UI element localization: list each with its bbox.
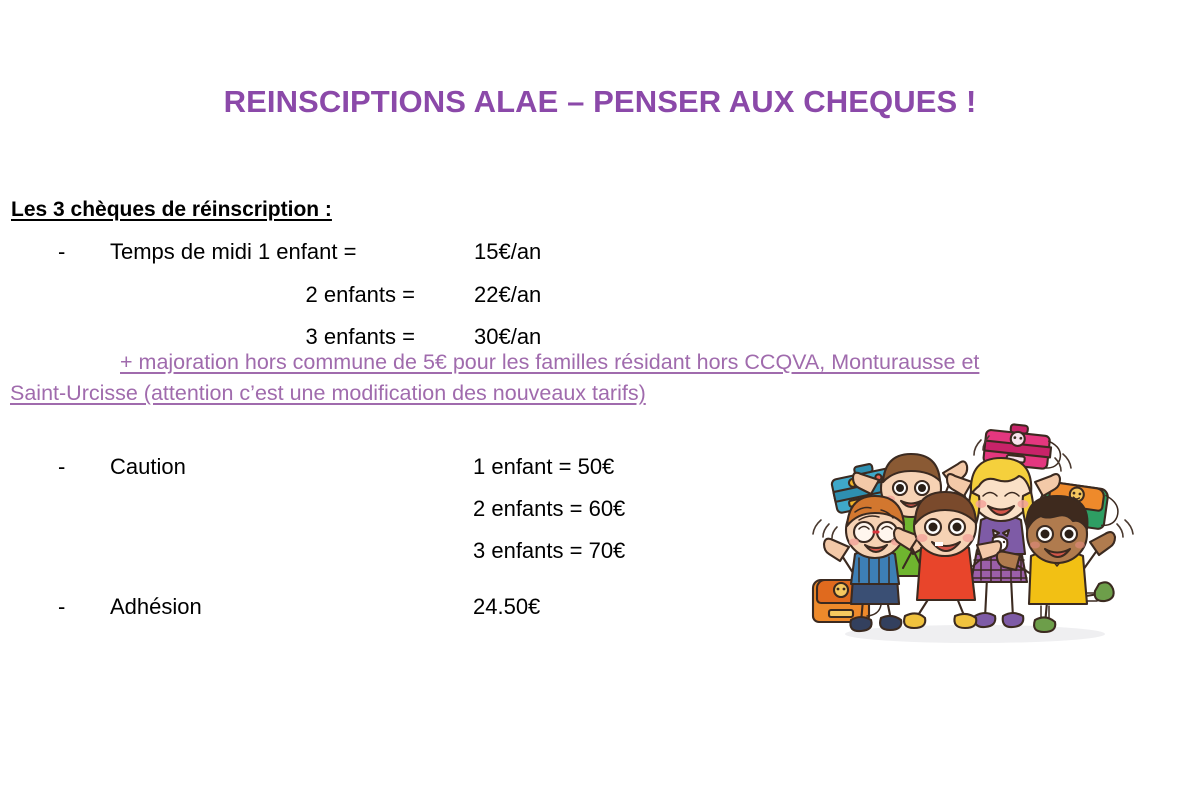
schoolchildren-illustration: .ol { stroke:#3B2A20; stroke-width:2.1; …: [795, 408, 1165, 653]
row-label-adhesion: Adhésion: [110, 596, 202, 618]
row-count-3-enfants: 3 enfants =: [185, 326, 415, 348]
bullet-dash-adhesion: -: [58, 596, 65, 618]
caution-value-3-enfants: 3 enfants = 70€: [473, 540, 625, 562]
row-price-2-enfants: 22€/an: [474, 284, 541, 306]
row-price-3-enfants: 30€/an: [474, 326, 541, 348]
adhesion-value: 24.50€: [473, 596, 540, 618]
bullet-dash-caution: -: [58, 456, 65, 478]
section-heading-cheques: Les 3 chèques de réinscription :: [11, 198, 332, 222]
row-label-temps-de-midi: Temps de midi 1 enfant =: [110, 241, 356, 263]
row-count-2-enfants: 2 enfants =: [185, 284, 415, 306]
page-title: REINSCIPTIONS ALAE – PENSER AUX CHEQUES …: [0, 84, 1200, 120]
caution-value-2-enfants: 2 enfants = 60€: [473, 498, 625, 520]
bullet-dash-temps-de-midi: -: [58, 241, 65, 263]
caution-value-1-enfant: 1 enfant = 50€: [473, 456, 614, 478]
note-line-2: Saint-Urcisse (attention c’est une modif…: [10, 379, 646, 408]
note-line-1: + majoration hors commune de 5€ pour les…: [120, 348, 979, 377]
row-price-1-enfant: 15€/an: [474, 241, 541, 263]
row-label-caution: Caution: [110, 456, 186, 478]
